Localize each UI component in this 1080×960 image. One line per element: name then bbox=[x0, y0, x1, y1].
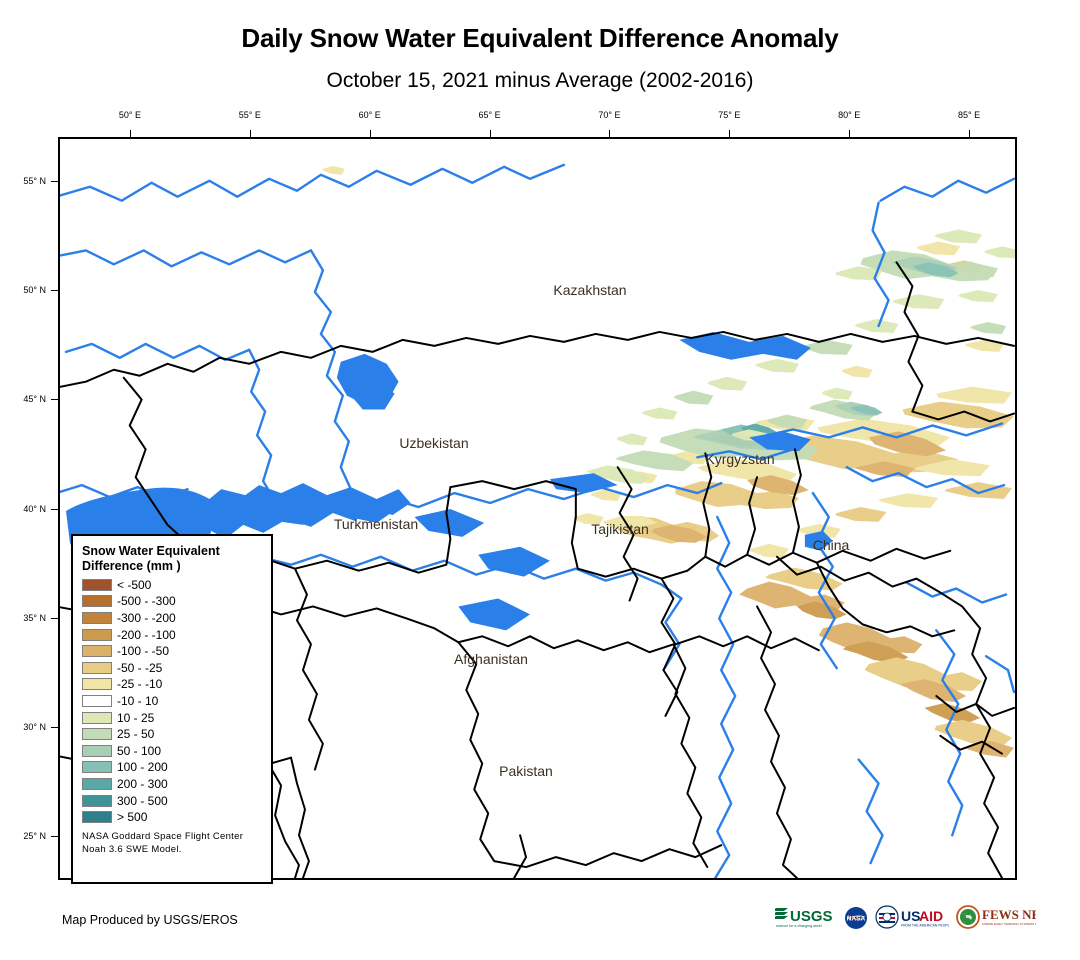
legend-label: 300 - 500 bbox=[117, 795, 168, 807]
legend-row[interactable]: > 500 bbox=[82, 809, 271, 826]
lon-tick bbox=[969, 130, 970, 137]
lat-tick bbox=[51, 727, 58, 728]
lat-tick bbox=[51, 509, 58, 510]
lon-tick-label: 50° E bbox=[119, 110, 141, 120]
legend-source: NASA Goddard Space Flight Center Noah 3.… bbox=[82, 831, 271, 857]
legend-swatch bbox=[82, 579, 112, 591]
usgs-logo-graphic: USGS science for a changing world bbox=[775, 905, 837, 931]
lat-tick-label: 55° N bbox=[23, 176, 46, 186]
legend-swatch bbox=[82, 811, 112, 823]
map-legend[interactable]: Snow Water Equivalent Difference (mm ) <… bbox=[71, 534, 273, 884]
lat-tick bbox=[51, 181, 58, 182]
lon-tick bbox=[130, 130, 131, 137]
legend-label: -500 - -300 bbox=[117, 595, 176, 607]
lon-tick bbox=[849, 130, 850, 137]
lon-tick bbox=[490, 130, 491, 137]
legend-row[interactable]: 100 - 200 bbox=[82, 759, 271, 776]
lon-tick bbox=[609, 130, 610, 137]
legend-label: -25 - -10 bbox=[117, 678, 162, 690]
legend-source-line2: Noah 3.6 SWE Model. bbox=[82, 844, 271, 857]
lat-tick bbox=[51, 399, 58, 400]
footer-credit: Map Produced by USGS/EROS bbox=[62, 913, 238, 927]
legend-swatch bbox=[82, 645, 112, 657]
legend-label: 100 - 200 bbox=[117, 761, 168, 773]
lon-tick-label: 60° E bbox=[359, 110, 381, 120]
svg-text:FEWS NET: FEWS NET bbox=[982, 907, 1036, 922]
usaid-logo-graphic: US AID FROM THE AMERICAN PEOPLE bbox=[875, 905, 949, 931]
legend-swatch bbox=[82, 612, 112, 624]
country-label: Pakistan bbox=[499, 763, 553, 779]
lon-tick-label: 70° E bbox=[598, 110, 620, 120]
country-label: Tajikistan bbox=[591, 521, 649, 537]
lon-tick-label: 80° E bbox=[838, 110, 860, 120]
lon-tick bbox=[370, 130, 371, 137]
lon-tick bbox=[250, 130, 251, 137]
legend-label: -200 - -100 bbox=[117, 629, 176, 641]
lat-tick-label: 25° N bbox=[23, 831, 46, 841]
legend-label: 50 - 100 bbox=[117, 745, 161, 757]
legend-row[interactable]: -200 - -100 bbox=[82, 626, 271, 643]
page-title: Daily Snow Water Equivalent Difference A… bbox=[0, 24, 1080, 53]
legend-title-line2: Difference (mm ) bbox=[82, 559, 262, 574]
legend-row[interactable]: -25 - -10 bbox=[82, 676, 271, 693]
lat-tick-label: 30° N bbox=[23, 722, 46, 732]
lat-tick bbox=[51, 618, 58, 619]
fewsnet-logo-graphic: FEWS NET FAMINE EARLY WARNING SYSTEMS NE… bbox=[956, 905, 1036, 931]
legend-swatch bbox=[82, 662, 112, 674]
country-label: Kazakhstan bbox=[553, 282, 626, 298]
legend-label: -100 - -50 bbox=[117, 645, 169, 657]
legend-row[interactable]: -500 - -300 bbox=[82, 593, 271, 610]
svg-text:NASA: NASA bbox=[847, 916, 866, 923]
lon-tick bbox=[729, 130, 730, 137]
lon-tick-label: 55° E bbox=[239, 110, 261, 120]
country-label: Afghanistan bbox=[454, 651, 528, 667]
legend-row[interactable]: -50 - -25 bbox=[82, 659, 271, 676]
legend-row[interactable]: < -500 bbox=[82, 577, 271, 594]
legend-swatch bbox=[82, 595, 112, 607]
legend-label: -50 - -25 bbox=[117, 662, 162, 674]
logo-bar: USGS science for a changing world NASA U… bbox=[775, 903, 1036, 933]
country-label: Uzbekistan bbox=[399, 435, 468, 451]
svg-text:FROM THE AMERICAN PEOPLE: FROM THE AMERICAN PEOPLE bbox=[901, 924, 949, 928]
svg-text:USGS: USGS bbox=[790, 908, 833, 925]
legend-swatch bbox=[82, 745, 112, 757]
lat-tick bbox=[51, 836, 58, 837]
legend-label: 10 - 25 bbox=[117, 712, 154, 724]
legend-row[interactable]: 300 - 500 bbox=[82, 792, 271, 809]
svg-text:AID: AID bbox=[919, 908, 943, 924]
nasa-logo[interactable]: NASA bbox=[844, 904, 868, 932]
lat-tick-label: 35° N bbox=[23, 613, 46, 623]
legend-source-line1: NASA Goddard Space Flight Center bbox=[82, 831, 271, 844]
country-label: China bbox=[813, 537, 850, 553]
legend-title: Snow Water Equivalent Difference (mm ) bbox=[82, 544, 262, 574]
legend-label: > 500 bbox=[117, 811, 147, 823]
legend-row[interactable]: 50 - 100 bbox=[82, 742, 271, 759]
country-label: Kyrgyzstan bbox=[705, 451, 774, 467]
lon-tick-label: 75° E bbox=[718, 110, 740, 120]
legend-row[interactable]: 10 - 25 bbox=[82, 709, 271, 726]
legend-label: 25 - 50 bbox=[117, 728, 154, 740]
fewsnet-logo[interactable]: FEWS NET FAMINE EARLY WARNING SYSTEMS NE… bbox=[956, 904, 1036, 932]
legend-row[interactable]: 200 - 300 bbox=[82, 776, 271, 793]
legend-swatch bbox=[82, 695, 112, 707]
legend-swatch bbox=[82, 712, 112, 724]
title-block: Daily Snow Water Equivalent Difference A… bbox=[0, 24, 1080, 92]
legend-row[interactable]: -10 - 10 bbox=[82, 693, 271, 710]
lat-tick-label: 45° N bbox=[23, 394, 46, 404]
legend-swatch bbox=[82, 795, 112, 807]
legend-label: -300 - -200 bbox=[117, 612, 176, 624]
legend-swatch bbox=[82, 629, 112, 641]
legend-swatch bbox=[82, 778, 112, 790]
lon-tick-label: 65° E bbox=[478, 110, 500, 120]
legend-label: 200 - 300 bbox=[117, 778, 168, 790]
nasa-logo-graphic: NASA bbox=[844, 906, 868, 930]
legend-row[interactable]: -100 - -50 bbox=[82, 643, 271, 660]
legend-label: < -500 bbox=[117, 579, 151, 591]
svg-text:US: US bbox=[901, 908, 920, 924]
legend-label: -10 - 10 bbox=[117, 695, 158, 707]
lon-tick-label: 85° E bbox=[958, 110, 980, 120]
svg-text:science for a changing world: science for a changing world bbox=[776, 924, 822, 928]
usaid-logo[interactable]: US AID FROM THE AMERICAN PEOPLE bbox=[875, 904, 949, 932]
lat-tick-label: 40° N bbox=[23, 504, 46, 514]
legend-swatch bbox=[82, 761, 112, 773]
svg-text:FAMINE EARLY WARNING SYSTEMS N: FAMINE EARLY WARNING SYSTEMS NETWORK bbox=[982, 922, 1036, 926]
legend-row[interactable]: -300 - -200 bbox=[82, 610, 271, 627]
lat-tick bbox=[51, 290, 58, 291]
page-subtitle: October 15, 2021 minus Average (2002-201… bbox=[0, 69, 1080, 92]
usgs-logo[interactable]: USGS science for a changing world bbox=[775, 904, 837, 932]
legend-row[interactable]: 25 - 50 bbox=[82, 726, 271, 743]
legend-items: < -500-500 - -300-300 - -200-200 - -100-… bbox=[82, 577, 271, 826]
legend-swatch bbox=[82, 678, 112, 690]
legend-title-line1: Snow Water Equivalent bbox=[82, 544, 262, 559]
legend-swatch bbox=[82, 728, 112, 740]
lat-tick-label: 50° N bbox=[23, 285, 46, 295]
country-label: Turkmenistan bbox=[334, 516, 418, 532]
